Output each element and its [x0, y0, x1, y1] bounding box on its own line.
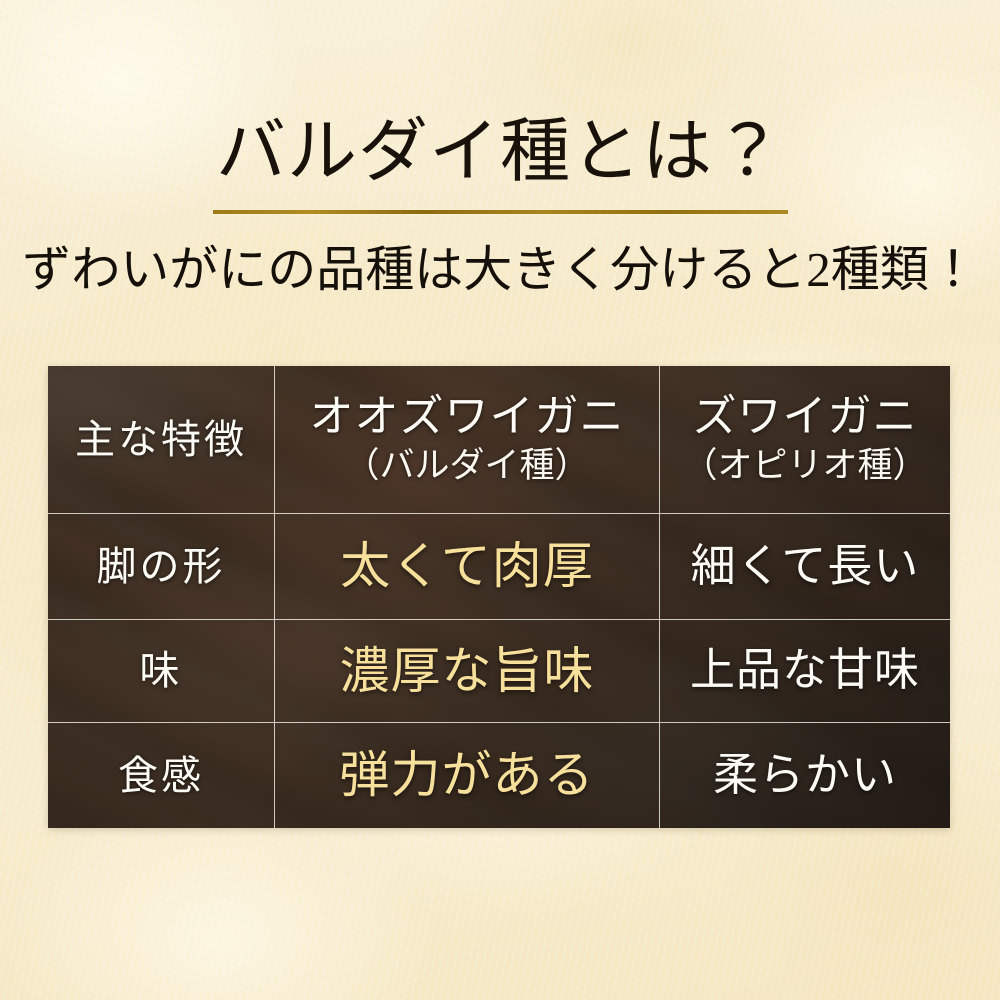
row-label-text: 食感 — [118, 755, 204, 797]
row-label-text: 脚の形 — [97, 546, 226, 588]
cell-value-text: 上品な甘味 — [690, 647, 920, 694]
column-header-label: ズワイガニ — [693, 394, 918, 441]
cell-value-text: 太くて肉厚 — [340, 540, 594, 593]
table-grid: 主な特徴 オオズワイガニ （バルダイ種） ズワイガニ （オピリオ種） 脚の形 太… — [48, 366, 950, 828]
table-header-cell-baldai: オオズワイガニ （バルダイ種） — [275, 366, 660, 514]
table-cell-opilio: 柔らかい — [660, 723, 950, 828]
cell-value-text: 柔らかい — [713, 752, 897, 799]
column-header-label: オオズワイガニ — [310, 394, 625, 441]
infographic-page: バルダイ種とは？ ずわいがにの品種は大きく分けると2種類！ 主な特徴 オオズワイ… — [0, 0, 1000, 1000]
heading-block: バルダイ種とは？ ずわいがにの品種は大きく分けると2種類！ — [0, 118, 1000, 294]
table-cell-baldai: 太くて肉厚 — [275, 514, 660, 620]
table-row-label: 脚の形 — [48, 514, 275, 620]
table-cell-baldai: 弾力がある — [275, 723, 660, 828]
column-header-sublabel: （オピリオ種） — [682, 446, 927, 485]
cell-value-text: 弾力がある — [340, 749, 595, 802]
cell-value-text: 濃厚な旨味 — [340, 645, 595, 698]
page-title: バルダイ種とは？ — [0, 118, 1000, 188]
cell-value-text: 細くて長い — [691, 543, 920, 590]
table-header-cell-opilio: ズワイガニ （オピリオ種） — [660, 366, 950, 514]
column-header-label: 主な特徴 — [75, 419, 247, 461]
row-label-text: 味 — [140, 650, 183, 692]
comparison-table: 主な特徴 オオズワイガニ （バルダイ種） ズワイガニ （オピリオ種） 脚の形 太… — [48, 366, 950, 828]
column-header-sublabel: （バルダイ種） — [344, 446, 589, 485]
table-header-cell-feature: 主な特徴 — [48, 366, 275, 514]
table-row-label: 食感 — [48, 723, 275, 828]
table-row-label: 味 — [48, 620, 275, 723]
page-subtitle: ずわいがにの品種は大きく分けると2種類！ — [0, 245, 1000, 294]
table-cell-baldai: 濃厚な旨味 — [275, 620, 660, 723]
table-cell-opilio: 上品な甘味 — [660, 620, 950, 723]
title-underline-divider — [213, 210, 788, 214]
table-cell-opilio: 細くて長い — [660, 514, 950, 620]
